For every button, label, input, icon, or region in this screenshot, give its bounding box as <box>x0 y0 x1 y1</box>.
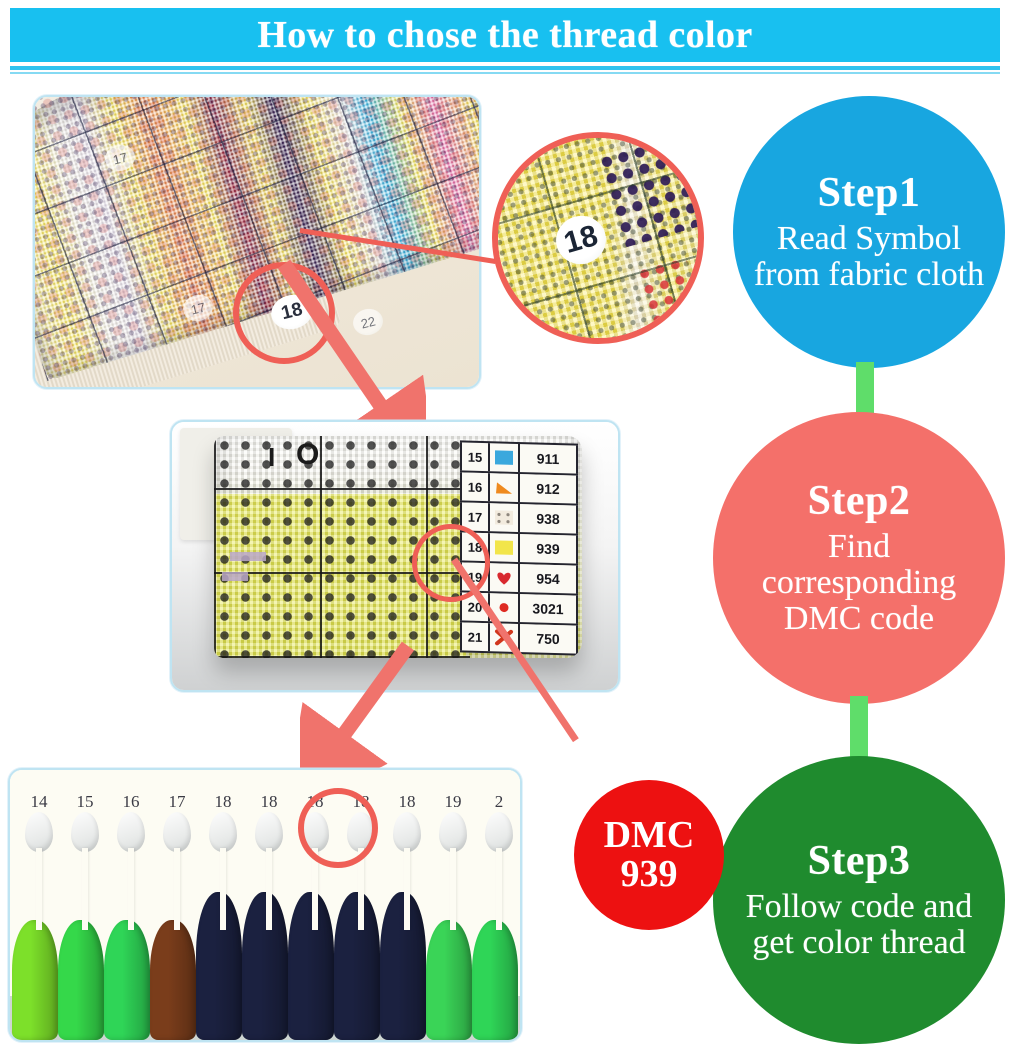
thread-column: 19 <box>430 770 476 1040</box>
legend-symbol-swatch <box>488 563 518 592</box>
thread-skein <box>242 892 288 1040</box>
thread-tag-stem <box>266 848 272 930</box>
thread-column-label: 15 <box>62 792 108 812</box>
thread-tag-bulb <box>25 812 53 852</box>
thread-tag-stem <box>496 848 502 930</box>
legend-symbol-swatch <box>488 443 518 472</box>
thread-tag-bulb <box>71 812 99 852</box>
thread-skein <box>288 892 334 1040</box>
page-title: How to chose the thread color <box>10 8 1000 62</box>
step-1-circle[interactable]: Step1 Read Symbol from fabric cloth <box>733 96 1005 368</box>
thread-column-label: 17 <box>154 792 200 812</box>
step-3-circle[interactable]: Step3 Follow code and get color thread <box>713 756 1005 1044</box>
thread-column-label: 18 <box>246 792 292 812</box>
legend-dmc-code: 911 <box>518 444 578 474</box>
thread-tag-bulb <box>117 812 145 852</box>
step-2-title: Step2 <box>808 479 911 524</box>
dmc-badge-code: 939 <box>621 855 678 894</box>
legend-dmc-code: 750 <box>518 624 578 654</box>
thread-tag-bulb <box>163 812 191 852</box>
thread-skein <box>12 920 58 1040</box>
thread-column: 16 <box>108 770 154 1040</box>
legend-symbol-number: 15 <box>460 442 488 471</box>
thread-tag-bulb <box>209 812 237 852</box>
chart-symbol-circle: O <box>296 438 319 472</box>
thread-tag-stem <box>450 848 456 930</box>
header-rule-thin <box>10 72 1000 74</box>
chart-symbol-bar: I <box>268 442 275 473</box>
lilac-stitch-run-a <box>230 552 266 561</box>
dmc-code-badge[interactable]: DMC 939 <box>574 780 724 930</box>
thread-tag-bulb <box>255 812 283 852</box>
thread-skein <box>380 892 426 1040</box>
legend-dmc-code: 954 <box>518 564 578 594</box>
step-2-body: Find corresponding DMC code <box>713 529 1005 637</box>
thread-column: 15 <box>62 770 108 1040</box>
thread-column-label: 18 <box>384 792 430 812</box>
thread-column: 14 <box>16 770 62 1040</box>
thread-skein <box>426 920 472 1040</box>
lilac-stitch-run-b <box>222 572 248 581</box>
thread-skein <box>334 892 380 1040</box>
legend-symbol-swatch <box>488 503 518 532</box>
dmc-badge-label: DMC <box>604 816 695 855</box>
legend-dmc-code: 938 <box>518 504 578 534</box>
rolled-canvas: I O 159111691217938189391995420302121750 <box>214 436 582 658</box>
thread-tag-stem <box>220 848 226 930</box>
infographic-root: How to chose the thread color 17 17 22 1… <box>0 0 1010 1044</box>
thread-skein <box>58 920 104 1040</box>
thread-tag-bulb <box>439 812 467 852</box>
legend-symbol-number: 16 <box>460 472 488 501</box>
legend-dmc-code: 3021 <box>518 594 578 624</box>
thread-tag-stem <box>404 848 410 930</box>
step-1-body: Read Symbol from fabric cloth <box>733 221 1005 293</box>
connector-step2-step3 <box>850 696 868 762</box>
thread-column-label: 19 <box>430 792 476 812</box>
thread-skein <box>104 920 150 1040</box>
highlight-ring-thread-18 <box>298 788 378 868</box>
legend-row: 16912 <box>460 472 578 505</box>
thread-skein <box>150 920 196 1040</box>
legend-row: 17938 <box>460 502 578 535</box>
thread-column-label: 16 <box>108 792 154 812</box>
thread-skein <box>196 892 242 1040</box>
thread-tag-bulb <box>393 812 421 852</box>
legend-dmc-code: 939 <box>518 534 578 564</box>
thread-column: 18 <box>200 770 246 1040</box>
thread-tag-stem <box>174 848 180 930</box>
legend-dmc-code: 912 <box>518 474 578 504</box>
legend-symbol-swatch <box>488 473 518 502</box>
step-3-body: Follow code and get color thread <box>713 889 1005 961</box>
thread-column: 18 <box>384 770 430 1040</box>
legend-row: 15911 <box>460 440 578 475</box>
thread-column: 18 <box>246 770 292 1040</box>
thread-tag-stem <box>82 848 88 930</box>
step-1-title: Step1 <box>818 171 921 216</box>
thread-column: 17 <box>154 770 200 1040</box>
thread-column-label: 2 <box>476 792 522 812</box>
step-3-title: Step3 <box>808 839 911 884</box>
thread-column-label: 18 <box>200 792 246 812</box>
photo-thread-organizer: 141516171818181818192 <box>8 768 522 1042</box>
header-rule-thick <box>10 66 1000 70</box>
thread-tag-stem <box>128 848 134 930</box>
thread-column-label: 14 <box>16 792 62 812</box>
magnifier-detail-circle: 18 <box>492 132 704 344</box>
header-band: How to chose the thread color <box>10 8 1000 62</box>
thread-column: 2 <box>476 770 522 1040</box>
thread-tag-stem <box>36 848 42 930</box>
thread-skein <box>472 920 518 1040</box>
legend-symbol-swatch <box>488 533 518 562</box>
legend-symbol-number: 21 <box>460 622 488 651</box>
step-2-circle[interactable]: Step2 Find corresponding DMC code <box>713 412 1005 704</box>
thread-tag-bulb <box>485 812 513 852</box>
